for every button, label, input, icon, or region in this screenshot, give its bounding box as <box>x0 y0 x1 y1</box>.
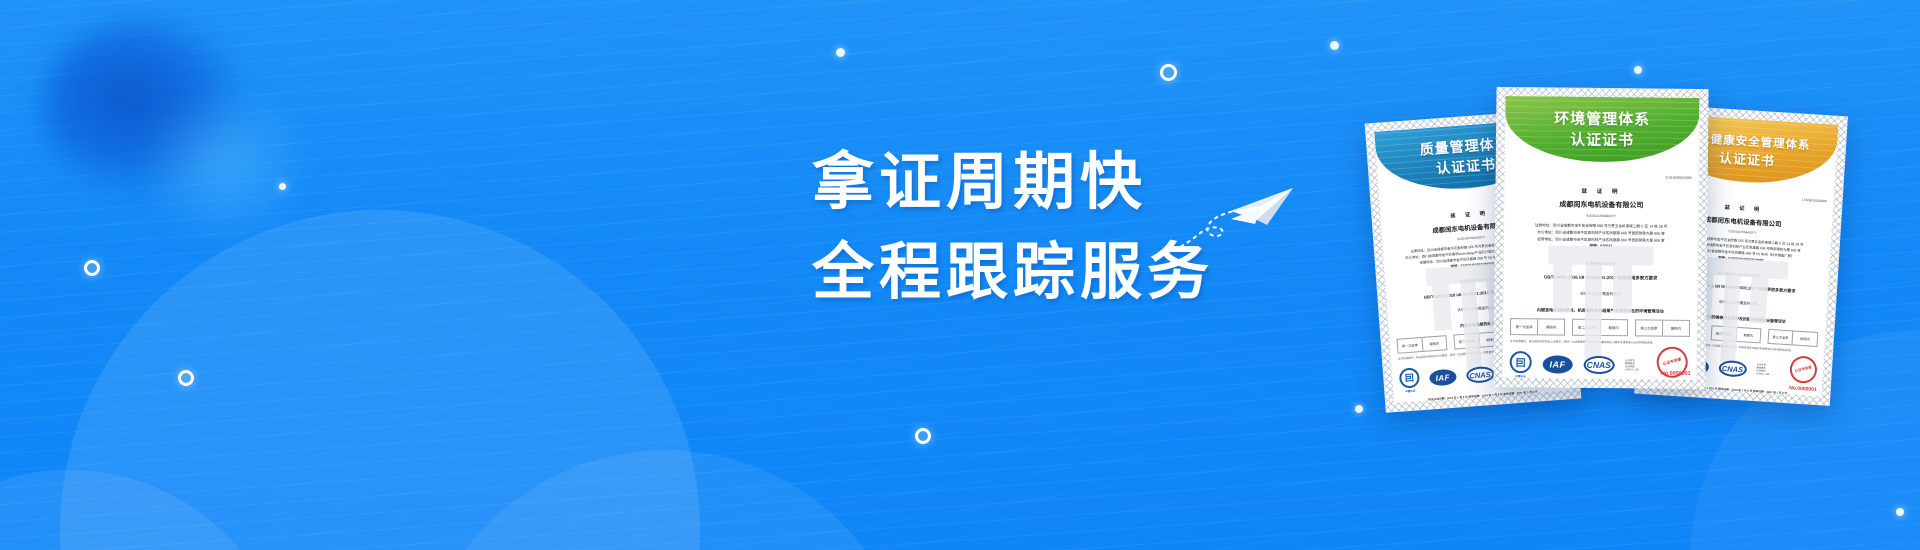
ring-dot-decoration <box>1160 64 1177 81</box>
cnas-note: 认可证书 管理体系 认证机构 CNAS C 190 <box>1756 365 1770 377</box>
certificate-group: 质量管理体系 认证证书 CT419028012906 兹 证 明 成都闰东电机设… <box>1375 78 1915 478</box>
red-stamp: 认证专用章 <box>1787 353 1819 385</box>
table-cell: 第一次监审 <box>1511 319 1538 334</box>
hero-banner: 拿证周期快 全程跟踪服务 质量管理体系 认证证书 <box>0 0 1920 550</box>
certificate-face: 环境管理体系 认证证书 17419020022906 兹 证 明 成都闰东电机设… <box>1503 96 1700 380</box>
headline-line-2: 全程跟踪服务 <box>812 228 1452 318</box>
certificate-credit-code: 915010476644037Y <box>1511 213 1691 219</box>
cnas-seal: CNAS <box>1583 356 1614 374</box>
seal-label: 中国认证 <box>1400 388 1420 393</box>
iaf-seal: IAF <box>1542 356 1572 374</box>
cnas-seal: CNAS <box>1718 360 1747 378</box>
ring-dot-decoration <box>178 370 194 386</box>
certificate-header-subtitle: 认证证书 <box>1719 147 1776 169</box>
iaf-seal: IAF <box>1429 369 1457 387</box>
dot-decoration <box>279 183 286 190</box>
certificate-header-environment: 环境管理体系 认证证书 <box>1505 96 1700 163</box>
certificate-card-environment[interactable]: 环境管理体系 认证证书 17419020022906 兹 证 明 成都闰东电机设… <box>1493 87 1708 389</box>
cnas-seal: CNAS <box>1465 366 1494 384</box>
ring-dot-decoration <box>915 428 931 444</box>
certificate-number: No.0000001 <box>1661 371 1691 377</box>
certificate-watermark <box>1547 246 1653 359</box>
dot-decoration <box>1355 405 1363 413</box>
china-accreditation-seal: 囙 中国认证 <box>1399 367 1421 393</box>
table-cell: 期限内 <box>1793 332 1817 346</box>
dot-decoration <box>1896 508 1904 516</box>
table-cell: 期限内 <box>1663 321 1689 336</box>
certificate-attest-label: 兹 证 明 <box>1511 186 1691 196</box>
certificate-company-name: 成都闰东电机设备有限公司 <box>1511 199 1691 211</box>
light-glow-decoration <box>150 95 300 235</box>
table-cell: 第一次监审 <box>1398 338 1424 353</box>
dot-decoration <box>836 48 845 57</box>
certificate-body: 17419020022906 兹 证 明 成都闰东电机设备有限公司 915010… <box>1503 161 1699 380</box>
china-accreditation-seal: 囙 中国认证 <box>1510 351 1532 378</box>
certificate-header-title: 环境管理体系 <box>1554 108 1650 130</box>
dot-decoration <box>1330 41 1339 50</box>
dot-decoration <box>1634 66 1642 74</box>
headline-line-1: 拿证周期快 <box>812 138 1452 228</box>
paper-plane-icon <box>1165 178 1295 258</box>
cnas-note: 认可证书 管理体系 认证机构 CNAS C 190 <box>1625 360 1639 372</box>
ring-dot-decoration <box>84 260 100 276</box>
certificate-header-subtitle: 认证证书 <box>1570 129 1634 151</box>
banner-headline: 拿证周期快 全程跟踪服务 <box>812 138 1452 318</box>
certificate-serial: 17419020022906 <box>1512 174 1692 180</box>
seal-label: 中国认证 <box>1510 374 1532 378</box>
